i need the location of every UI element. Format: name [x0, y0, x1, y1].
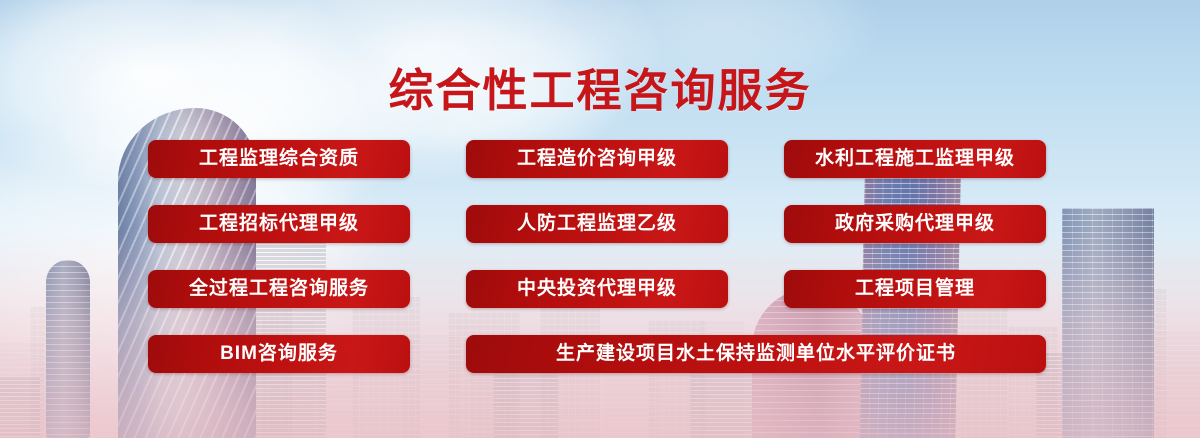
badge-row: 工程招标代理甲级人防工程监理乙级政府采购代理甲级	[148, 205, 1054, 243]
qualification-badge[interactable]: 政府采购代理甲级	[784, 205, 1046, 243]
qualification-badge[interactable]: 全过程工程咨询服务	[148, 270, 410, 308]
badge-row: 全过程工程咨询服务中央投资代理甲级工程项目管理	[148, 270, 1054, 308]
qualification-badge[interactable]: 中央投资代理甲级	[466, 270, 728, 308]
badge-row: BIM咨询服务生产建设项目水土保持监测单位水平评价证书	[148, 335, 1054, 373]
qualification-badge[interactable]: 水利工程施工监理甲级	[784, 140, 1046, 178]
qualification-badge[interactable]: BIM咨询服务	[148, 335, 410, 373]
page-title: 综合性工程咨询服务	[0, 54, 1200, 119]
qualification-badge[interactable]: 工程造价咨询甲级	[466, 140, 728, 178]
qualification-badge[interactable]: 工程监理综合资质	[148, 140, 410, 178]
promo-banner: 综合性工程咨询服务 工程监理综合资质工程造价咨询甲级水利工程施工监理甲级工程招标…	[0, 0, 1200, 438]
qualification-badge-grid: 工程监理综合资质工程造价咨询甲级水利工程施工监理甲级工程招标代理甲级人防工程监理…	[148, 140, 1054, 373]
qualification-badge[interactable]: 生产建设项目水土保持监测单位水平评价证书	[466, 335, 1046, 373]
qualification-badge[interactable]: 工程项目管理	[784, 270, 1046, 308]
badge-row: 工程监理综合资质工程造价咨询甲级水利工程施工监理甲级	[148, 140, 1054, 178]
qualification-badge[interactable]: 工程招标代理甲级	[148, 205, 410, 243]
qualification-badge[interactable]: 人防工程监理乙级	[466, 205, 728, 243]
